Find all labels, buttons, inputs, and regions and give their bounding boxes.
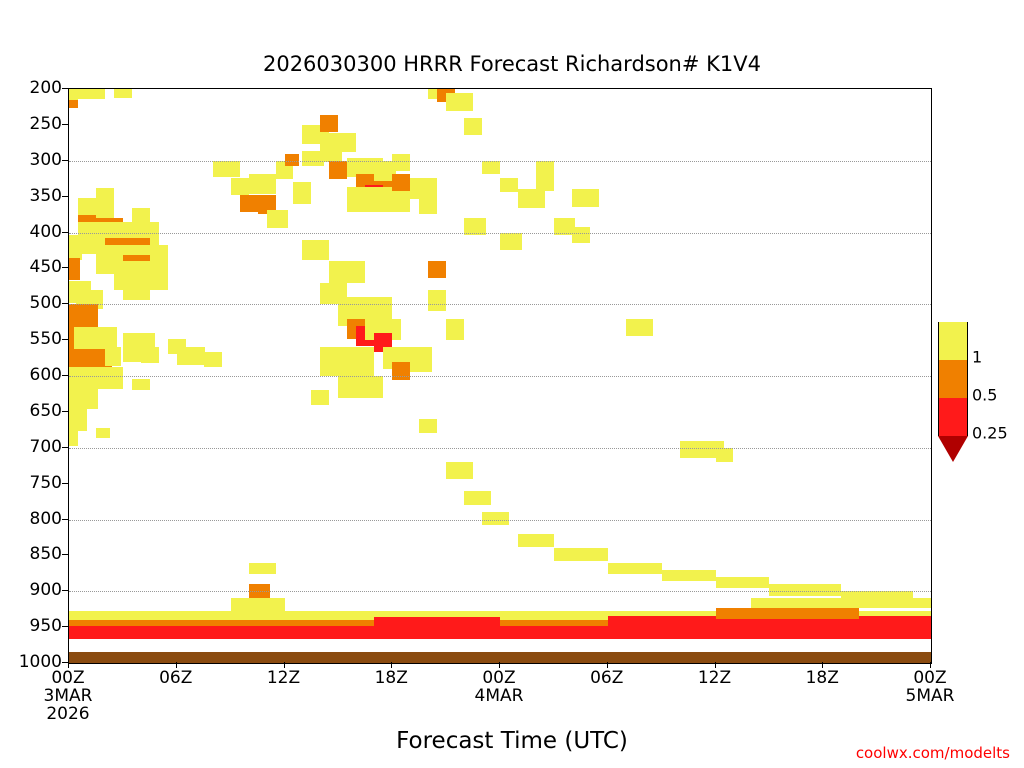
- credit-watermark: coolwx.com/modelts: [856, 744, 1010, 762]
- y-axis-tick-mark: [62, 626, 68, 627]
- heatmap-cell: [500, 178, 518, 192]
- heatmap-cell: [662, 570, 716, 581]
- terrain-band: [69, 652, 931, 663]
- y-axis-tick-label: 450: [0, 257, 68, 277]
- heatmap-cell: [231, 598, 285, 615]
- x-axis-tick-mark: [607, 662, 608, 668]
- y-axis-tick-mark: [62, 411, 68, 412]
- x-axis-tick-label: 12Z: [267, 670, 300, 688]
- x-axis-tick-label: 00Z 4MAR: [475, 670, 524, 706]
- x-axis-tick-mark: [284, 662, 285, 668]
- y-axis-tick-label: 350: [0, 186, 68, 206]
- x-axis-tick-mark: [391, 662, 392, 668]
- color-legend: 10.50.25: [938, 296, 968, 470]
- y-axis-tick-mark: [62, 196, 68, 197]
- y-gridline: [69, 233, 931, 235]
- heatmap-cell: [69, 389, 98, 409]
- y-axis-tick-label: 400: [0, 222, 68, 242]
- heatmap-cell: [132, 379, 150, 390]
- legend-label: 1: [972, 347, 982, 366]
- y-gridline: [69, 304, 931, 306]
- y-axis-tick-label: 700: [0, 437, 68, 457]
- heatmap-cell: [338, 376, 383, 398]
- y-axis-tick-label: 750: [0, 473, 68, 493]
- x-axis-tick-label: 12Z: [698, 670, 731, 688]
- y-axis-tick-label: 300: [0, 150, 68, 170]
- legend-label: 0.25: [972, 423, 1008, 442]
- heatmap-cell: [419, 419, 437, 433]
- heatmap-cell: [446, 93, 473, 110]
- y-axis-tick-mark: [62, 590, 68, 591]
- x-axis-tick-label: 18Z: [806, 670, 839, 688]
- y-axis-tick-label: 500: [0, 293, 68, 313]
- heatmap-cell: [249, 174, 276, 194]
- y-axis-tick-label: 200: [0, 78, 68, 98]
- heatmap-cell: [500, 233, 522, 250]
- legend-swatch: [938, 398, 968, 436]
- y-axis-tick-label: 900: [0, 580, 68, 600]
- heatmap-cell: [311, 390, 329, 404]
- plot-area: [68, 88, 932, 664]
- heatmap-cell: [716, 577, 770, 588]
- heatmap-cell: [69, 89, 78, 100]
- heatmap-cell: [572, 189, 599, 206]
- heatmap-cell: [293, 182, 311, 204]
- y-gridline: [69, 448, 931, 450]
- heatmap-cell: [69, 100, 78, 107]
- heatmap-cell: [572, 227, 590, 243]
- heatmap-cell: [231, 178, 249, 195]
- legend-label: 0.5: [972, 385, 997, 404]
- heatmap-cell: [419, 198, 437, 214]
- heatmap-cell: [536, 161, 554, 175]
- x-axis-tick-mark: [715, 662, 716, 668]
- heatmap-cell: [123, 283, 150, 300]
- y-axis-tick-mark: [62, 267, 68, 268]
- heatmap-cell: [428, 261, 446, 278]
- y-axis-tick-mark: [62, 483, 68, 484]
- heatmap-cell: [769, 584, 841, 595]
- y-gridline: [69, 376, 931, 378]
- chart-title: 2026030300 HRRR Forecast Richardson# K1V…: [0, 52, 1024, 76]
- heatmap-cell: [69, 235, 82, 259]
- heatmap-cell: [329, 261, 365, 283]
- legend-swatch: [938, 322, 968, 360]
- heatmap-cell: [518, 534, 554, 547]
- y-axis-tick-mark: [62, 375, 68, 376]
- heatmap-cell: [464, 118, 482, 135]
- y-axis-tick-label: 550: [0, 329, 68, 349]
- heatmap-cell: [446, 462, 473, 479]
- y-axis-tick-mark: [62, 160, 68, 161]
- heatmap-cell: [69, 431, 78, 447]
- heatmap-cell: [74, 327, 117, 349]
- y-gridline: [69, 591, 931, 593]
- x-axis-tick-mark: [930, 662, 931, 668]
- heatmap-cell: [608, 563, 662, 574]
- heatmap-cell: [141, 347, 159, 363]
- y-axis-tick-mark: [62, 124, 68, 125]
- chart-canvas: 2026030300 HRRR Forecast Richardson# K1V…: [0, 0, 1024, 768]
- x-axis-tick-mark: [68, 662, 69, 668]
- y-axis-tick-label: 800: [0, 509, 68, 529]
- heatmap-cell: [536, 175, 554, 191]
- legend-swatch: [938, 360, 968, 398]
- heatmap-cell: [302, 240, 329, 260]
- heatmap-cell: [69, 258, 80, 280]
- y-gridline: [69, 520, 931, 522]
- y-gridline: [69, 161, 931, 163]
- heatmap-cell: [464, 491, 491, 505]
- x-axis-tick-label: 00Z 3MAR 2026: [44, 670, 93, 724]
- y-axis-tick-mark: [62, 554, 68, 555]
- heatmap-cell: [249, 563, 276, 574]
- heatmap-cell: [150, 267, 168, 287]
- y-axis-tick-label: 600: [0, 365, 68, 385]
- heatmap-cell: [446, 319, 464, 341]
- heatmap-cell: [329, 161, 347, 180]
- heatmap-cell: [428, 290, 446, 312]
- x-axis-tick-label: 18Z: [375, 670, 408, 688]
- y-axis-tick-mark: [62, 519, 68, 520]
- y-axis-tick-mark: [62, 88, 68, 89]
- x-axis-tick-mark: [822, 662, 823, 668]
- legend-top-arrow-outline: [938, 296, 968, 322]
- y-axis-tick-label: 850: [0, 544, 68, 564]
- heatmap-cell: [410, 178, 437, 200]
- heatmap-cell: [96, 428, 110, 438]
- legend-bottom-arrow: [938, 436, 968, 462]
- y-axis-tick-label: 650: [0, 401, 68, 421]
- surface-layer-red: [69, 626, 931, 639]
- heatmap-cell: [518, 189, 545, 208]
- heatmap-cell: [267, 210, 289, 229]
- y-axis-tick-mark: [62, 303, 68, 304]
- y-axis-tick-label: 950: [0, 616, 68, 636]
- heatmap-cell: [132, 208, 150, 225]
- surface-layer-orange-2: [716, 608, 860, 618]
- y-axis-tick-label: 250: [0, 114, 68, 134]
- heatmap-cell: [204, 352, 222, 368]
- heatmap-cell: [105, 347, 121, 366]
- heatmap-cell: [177, 347, 206, 364]
- y-axis-tick-mark: [62, 232, 68, 233]
- y-axis-tick-mark: [62, 339, 68, 340]
- surface-layer-white: [69, 640, 931, 650]
- y-axis-tick-mark: [62, 447, 68, 448]
- heatmap-cell: [213, 161, 240, 177]
- heatmap-cell: [240, 195, 258, 212]
- heatmap-cell: [320, 347, 374, 376]
- surface-layer-red-2: [374, 617, 500, 630]
- x-axis-tick-mark: [499, 662, 500, 668]
- heatmap-cell: [78, 89, 105, 99]
- heatmap-cell: [392, 174, 410, 191]
- heatmap-cell: [410, 347, 432, 371]
- x-axis-tick-mark: [176, 662, 177, 668]
- x-axis-tick-label: 06Z: [590, 670, 623, 688]
- heatmap-cell: [626, 319, 653, 336]
- heatmap-cell: [716, 448, 734, 462]
- x-axis-tick-label: 00Z 5MAR: [906, 670, 955, 706]
- heatmap-cell: [114, 89, 132, 98]
- x-axis-tick-label: 06Z: [159, 670, 192, 688]
- heatmap-cell: [338, 133, 356, 152]
- heatmap-cell: [320, 115, 338, 132]
- heatmap-cell: [554, 548, 608, 561]
- heatmap-cell: [69, 409, 87, 431]
